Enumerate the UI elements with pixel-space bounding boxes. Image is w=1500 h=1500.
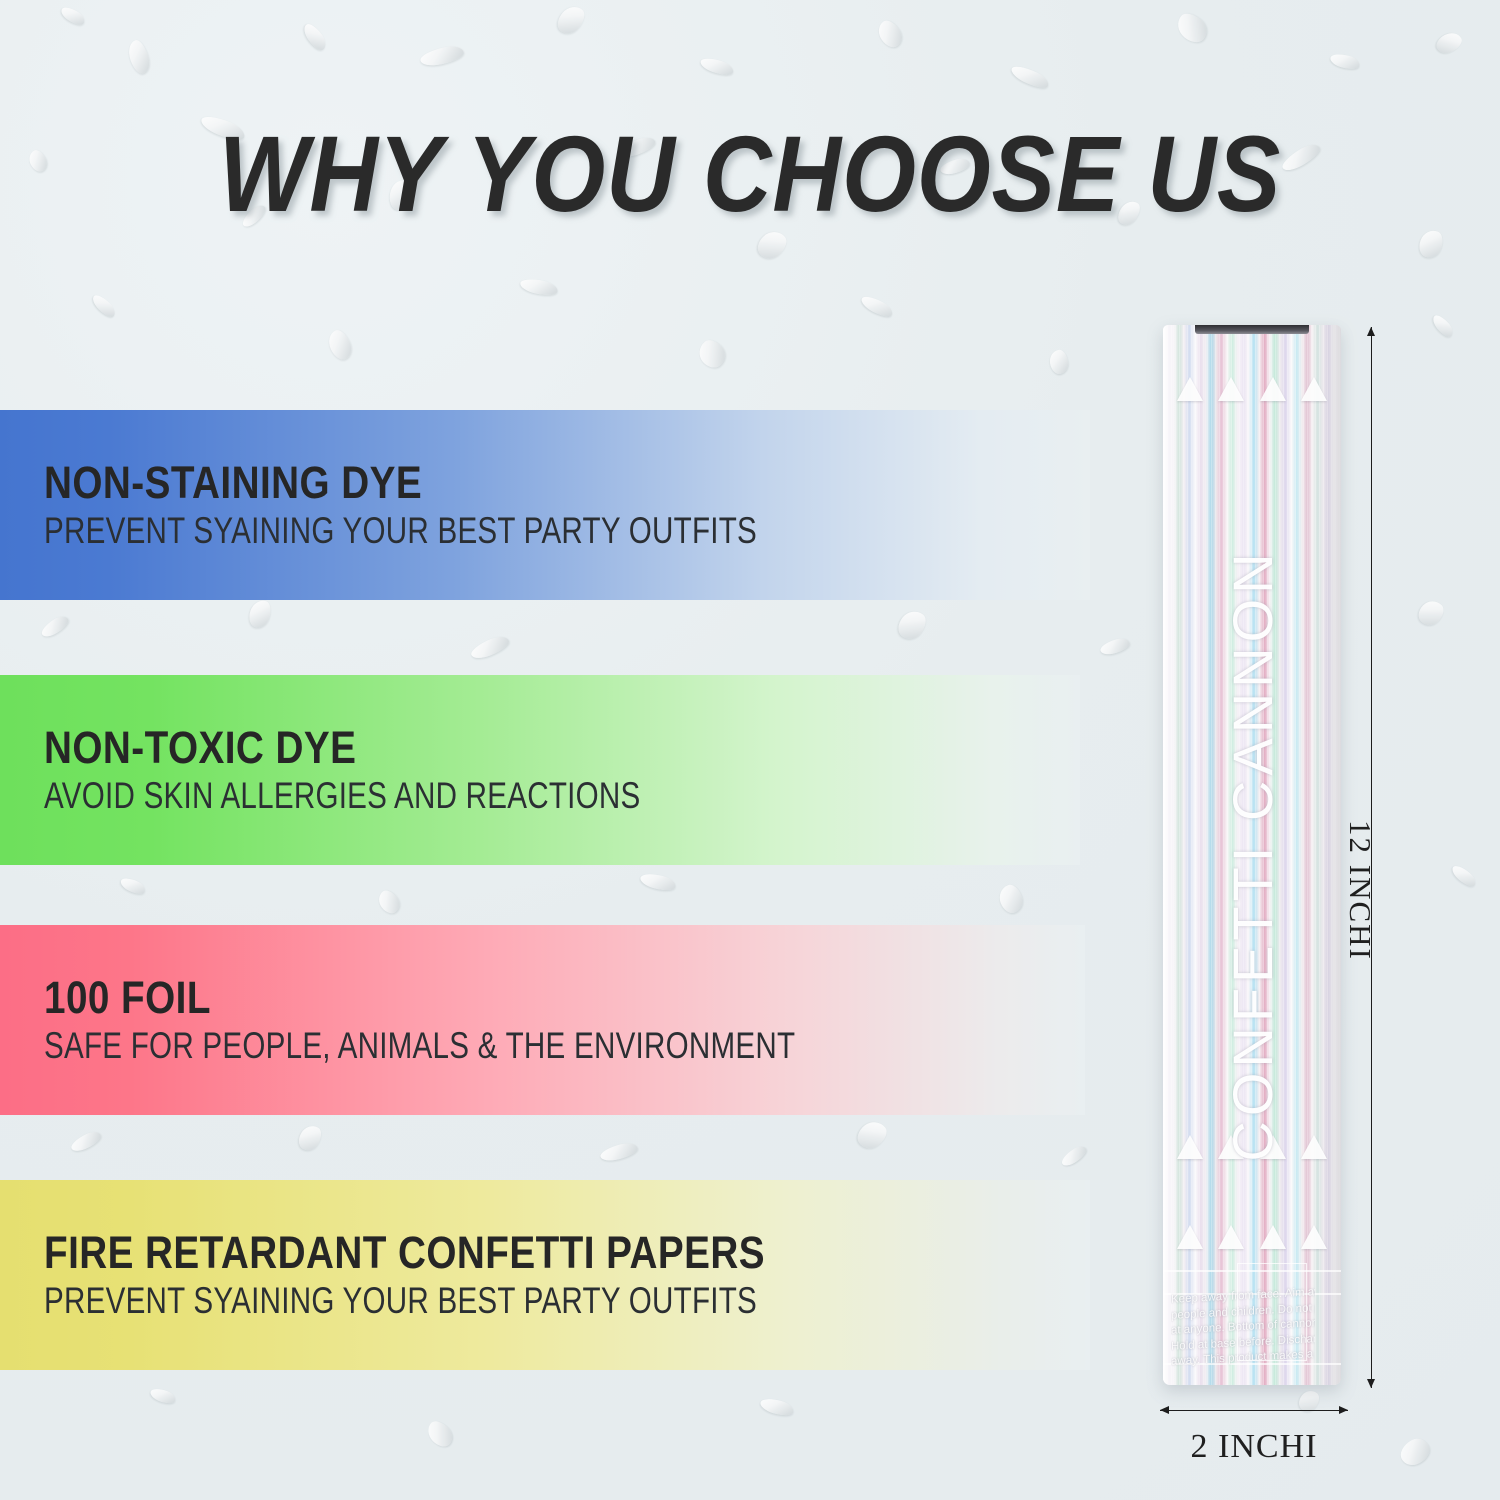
feature-heading: NON-STAINING DYE (44, 459, 944, 506)
confetti-flake (295, 1122, 325, 1155)
feature-bar-100-foil: 100 FOIL SAFE FOR PEOPLE, ANIMALS & THE … (0, 925, 1085, 1115)
height-dimension-label: 12 INCHI (1342, 820, 1378, 961)
confetti-flake (1329, 51, 1361, 71)
confetti-flake (59, 4, 87, 28)
feature-bar-fire-retardant: FIRE RETARDANT CONFETTI PAPERS PREVENT S… (0, 1180, 1090, 1370)
arrow-head-right-icon (1339, 1406, 1348, 1414)
confetti-flake (1416, 227, 1446, 261)
confetti-flake (246, 598, 274, 631)
arrow-head-down-icon (1367, 1379, 1375, 1388)
confetti-flake (26, 148, 50, 175)
confetti-flake (1414, 596, 1448, 630)
confetti-flake (119, 875, 148, 897)
confetti-flake (759, 1396, 796, 1419)
feature-bar-non-staining-dye: NON-STAINING DYE PREVENT SYAINING YOUR B… (0, 410, 1090, 600)
product-name-label: CONFETTI CANNON (1163, 325, 1341, 1385)
arrow-head-up-icon (1367, 327, 1375, 336)
confetti-flake (1048, 349, 1070, 376)
feature-heading: 100 FOIL (44, 974, 939, 1021)
confetti-flake (69, 1129, 103, 1155)
feature-subtitle: PREVENT SYAINING YOUR BEST PARTY OUTFITS (44, 1282, 881, 1321)
arrow-head-left-icon (1160, 1406, 1169, 1414)
confetti-flake (1059, 1143, 1089, 1169)
confetti-flake (859, 293, 895, 320)
confetti-flake (553, 1, 589, 38)
confetti-flake (419, 44, 465, 69)
confetti-flake (853, 1116, 891, 1153)
confetti-cannon-product: CONFETTI CANNON CONFETTI CANNON Keep awa… (1163, 325, 1341, 1385)
width-dimension-line (1160, 1410, 1348, 1411)
confetti-flake (893, 606, 930, 644)
confetti-flake (874, 17, 906, 51)
confetti-flake (694, 336, 730, 373)
warning-label-box (1237, 1263, 1307, 1361)
confetti-flake (469, 633, 512, 662)
confetti-flake (423, 1417, 457, 1451)
confetti-flake (996, 882, 1026, 916)
confetti-flake (1396, 1434, 1434, 1469)
confetti-flake (1009, 62, 1051, 92)
confetti-flake (325, 327, 356, 363)
feature-heading: NON-TOXIC DYE (44, 724, 935, 771)
confetti-flake (639, 871, 677, 893)
infographic-canvas: WHY YOU CHOOSE US NON-STAINING DYE PREVE… (0, 0, 1500, 1500)
width-dimension-label: 2 INCHI (1160, 1428, 1348, 1466)
feature-bar-non-toxic-dye: NON-TOXIC DYE AVOID SKIN ALLERGIES AND R… (0, 675, 1080, 865)
confetti-flake (599, 1141, 639, 1164)
confetti-flake (375, 887, 404, 917)
feature-subtitle: AVOID SKIN ALLERGIES AND REACTIONS (44, 777, 873, 816)
confetti-flake (519, 276, 559, 298)
feature-subtitle: SAFE FOR PEOPLE, ANIMALS & THE ENVIRONME… (44, 1027, 877, 1066)
confetti-flake (125, 38, 153, 76)
feature-subtitle: PREVENT SYAINING YOUR BEST PARTY OUTFITS (44, 512, 881, 551)
confetti-flake (1172, 9, 1212, 48)
product-side-text: CONFETTI CANNON (1327, 325, 1341, 555)
confetti-flake (39, 613, 71, 640)
page-title: WHY YOU CHOOSE US (90, 120, 1410, 228)
confetti-flake (90, 292, 118, 320)
feature-heading: FIRE RETARDANT CONFETTI PAPERS (44, 1229, 944, 1276)
confetti-flake (1099, 636, 1131, 657)
confetti-flake (699, 55, 735, 78)
confetti-flake (1449, 862, 1478, 889)
confetti-flake (1433, 29, 1464, 57)
confetti-flake (1430, 312, 1456, 340)
confetti-flake (301, 21, 330, 54)
confetti-flake (149, 1386, 178, 1406)
